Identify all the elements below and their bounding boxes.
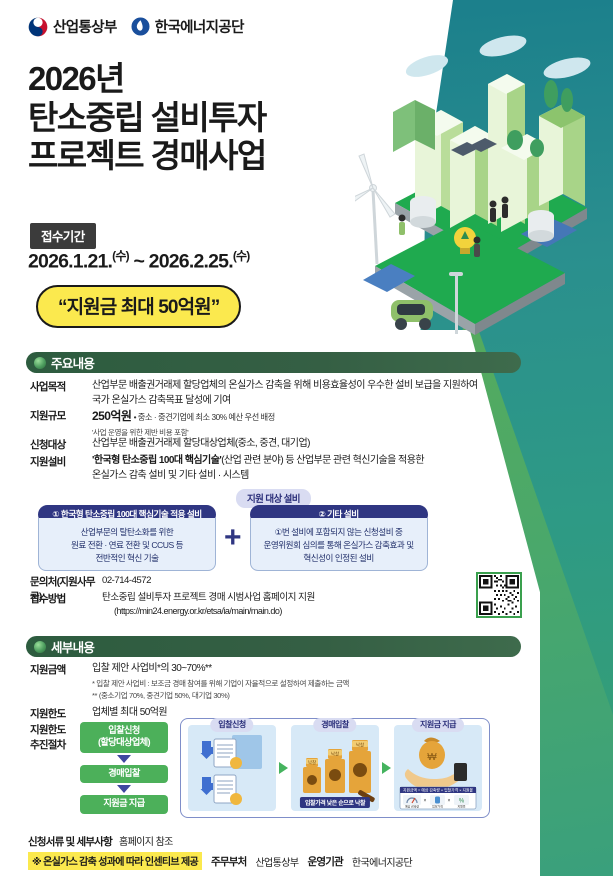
svg-text:×: × <box>424 798 427 804</box>
logo-agency-label: 한국에너지공단 <box>155 16 244 37</box>
section-header-main-label: 주요내용 <box>51 353 94 372</box>
flow-chip-1: 입찰신청 (할당대상업체) <box>80 722 168 753</box>
flow-step-1-label: 입찰신청 <box>210 718 253 732</box>
flow-arrow-right-icon-2 <box>382 762 391 774</box>
scale-note: • 중소 · 중견기업에 최소 30% 예산 우선 배정 <box>134 412 275 422</box>
svg-text:예상 감축량: 예상 감축량 <box>405 804 419 809</box>
scale-subnote: '사업 운영을 위한 제반 비용 포함' <box>92 427 275 438</box>
footer-docs-label: 신청서류 및 세부사항 <box>28 834 112 849</box>
info-label-grant-limit: 지원한도 <box>30 706 92 721</box>
purpose-line-2: 국가 온실가스 감축목표 달성에 기여 <box>92 395 231 406</box>
eq1-line-1: 산업부문의 탈탄소화를 위한 <box>81 527 174 537</box>
flow-chip-1-label: 입찰신청 <box>108 725 139 735</box>
contact-value-phone: 02-714-4572 <box>102 574 151 588</box>
grant-payment-icon: ₩ 지원금액 = 예상 감축량 × 입찰가격 × 지원율 예상 감축량 × <box>394 725 482 811</box>
info-body-purpose: 산업부문 배출권거래제 할당업체의 온실가스 감축을 위해 비용효율성이 우수한… <box>92 379 478 408</box>
apply-method-text: 탄소중립 설비투자 프로젝트 경매 시범사업 홈페이지 지원 <box>102 592 315 603</box>
equipment-line-1-rest: (산업 관련 분야) 등 산업부문 관련 혁신기술을 적용한 <box>221 455 424 466</box>
info-body-equipment: '한국형 탄소중립 100대 핵심기술'(산업 관련 분야) 등 산업부문 관련… <box>92 454 424 483</box>
equipment-box-2: ② 기타 설비 ①번 설비에 포함되지 않는 신청설비 중 운영위원회 심의를 … <box>250 505 428 571</box>
info-label-eligibility: 신청대상 <box>30 437 92 452</box>
svg-text:%: % <box>459 799 465 805</box>
procedure-illustration-panel: 입찰신청 <box>180 718 490 818</box>
plus-icon: + <box>224 523 242 553</box>
eq1-line-3: 전반적인 혁신 기술 <box>95 553 158 563</box>
equipment-box-1: ① 한국형 탄소중립 100대 핵심기술 적용 설비 산업부문의 탈탄소화를 위… <box>38 505 216 571</box>
section-bullet-icon-2 <box>34 641 46 653</box>
flow-arrow-right-icon-1 <box>279 762 288 774</box>
equipment-box-1-body: 산업부문의 탈탄소화를 위한 원료 전환 · 연료 전환 및 CCUS 등 전반… <box>38 518 216 571</box>
flow-step-2-canvas: 낙찰 낙찰 <box>291 725 379 811</box>
grant-footnote-2: ** (중소기업 70%, 중견기업 50%, 대기업 30%) <box>92 690 349 701</box>
section-header-main: 주요내용 <box>26 352 521 373</box>
grant-amount-line-1: 입찰 제안 사업비*의 30~70%** <box>92 663 212 674</box>
flow-chip-1-sublabel: (할당대상업체) <box>98 737 150 747</box>
footer-documents-row: 신청서류 및 세부사항 홈페이지 참조 <box>28 833 173 849</box>
svg-text:낙찰: 낙찰 <box>356 742 364 749</box>
info-label-equipment: 지원설비 <box>30 454 92 483</box>
flow-step-2-caption: 입찰가격 낮은 순으로 낙찰 <box>300 797 370 808</box>
period-end: 2026.2.25. <box>149 251 233 273</box>
footer-incentive-note: ※ 온실가스 감축 성과에 따라 인센티브 제공 <box>28 852 202 870</box>
energy-agency-icon <box>131 17 150 36</box>
eq2-line-2: 운영위원회 심의를 통해 온실가스 감축효과 및 <box>263 540 413 550</box>
info-row-scale: 지원규모 250억원 • 중소 · 중견기업에 최소 30% 예산 우선 배정 … <box>30 408 500 438</box>
flow-arrow-down-icon-1 <box>117 755 131 763</box>
procedure-flow-column: 입찰신청 (할당대상업체) 경매입찰 지원금 지급 <box>80 722 168 814</box>
flow-step-3: 지원금 지급 ₩ 지원금액 = 예상 감축량 × 입찰가격 × 지원율 <box>394 725 482 811</box>
contact-label-apply: 접수방법 <box>30 591 102 606</box>
period-tag: 접수기간 <box>30 223 96 249</box>
info-label-purpose: 사업목적 <box>30 379 92 408</box>
scale-amount: 250억원 <box>92 409 131 423</box>
logo-ministry: 산업통상부 <box>28 16 117 37</box>
flow-step-3-label: 지원금 지급 <box>412 718 464 732</box>
info-row-purpose: 사업목적 산업부문 배출권거래제 할당업체의 온실가스 감축을 위해 비용효율성… <box>30 379 500 408</box>
bid-application-icon <box>188 725 276 811</box>
title-line-3: 프로젝트 경매사업 <box>28 137 388 176</box>
equipment-line-2: 온실가스 감축 설비 및 기타 설비 · 시스템 <box>92 470 249 481</box>
footer-docs-value: 홈페이지 참조 <box>119 833 173 848</box>
svg-text:지원율: 지원율 <box>458 804 466 809</box>
taegeuk-icon <box>28 17 48 37</box>
poster-root: 산업통상부 한국에너지공단 2026년 탄소중립 설비투자 프로젝트 경매사업 … <box>0 0 613 876</box>
footer-ministry-label: 주무부처 <box>211 854 246 869</box>
logo-agency: 한국에너지공단 <box>131 16 244 37</box>
grant-amount-banner: “지원금 최대 50억원” <box>36 285 241 328</box>
footer-operator-value: 한국에너지공단 <box>352 854 412 869</box>
contact-row-apply: 접수방법 탄소중립 설비투자 프로젝트 경매 시범사업 홈페이지 지원 (htt… <box>30 591 315 619</box>
equipment-box-2-body: ①번 설비에 포함되지 않는 신청설비 중 운영위원회 심의를 통해 온실가스 … <box>250 518 428 571</box>
info-label-scale: 지원규모 <box>30 408 92 438</box>
footer-organizations-row: ※ 온실가스 감축 성과에 따라 인센티브 제공 주무부처 산업통상부 운영기관… <box>28 852 412 870</box>
info-row-equipment: 지원설비 '한국형 탄소중립 100대 핵심기술'(산업 관련 분야) 등 산업… <box>30 454 500 483</box>
info-body-eligibility: 산업부문 배출권거래제 할당대상업체(중소, 중견, 대기업) <box>92 437 310 452</box>
flow-chip-3: 지원금 지급 <box>80 795 168 814</box>
info-row-eligibility: 신청대상 산업부문 배출권거래제 할당대상업체(중소, 중견, 대기업) <box>30 437 500 452</box>
footer-ministry-value: 산업통상부 <box>255 854 298 869</box>
svg-text:낙찰: 낙찰 <box>331 751 339 758</box>
eco-city-illustration <box>355 28 607 358</box>
apply-url[interactable]: (https://min24.energy.or.kr/etsa/ia/main… <box>114 605 315 619</box>
title-line-1: 2026년 <box>28 60 388 99</box>
eq2-line-3: 혁신성이 인정된 설비 <box>303 553 373 563</box>
svg-text:×: × <box>448 798 451 804</box>
info-body-scale: 250억원 • 중소 · 중견기업에 최소 30% 예산 우선 배정 '사업 운… <box>92 408 275 438</box>
svg-text:₩: ₩ <box>427 752 437 763</box>
section-header-detail-label: 세부내용 <box>51 637 94 656</box>
period-start: 2026.1.21. <box>28 251 112 273</box>
qr-code[interactable] <box>476 572 522 618</box>
info-body-grant-amount: 입찰 제안 사업비*의 30~70%** * 입찰 제안 사업비 : 보조금 경… <box>92 662 349 701</box>
period-separator: ~ <box>133 251 144 273</box>
poster-title: 2026년 탄소중립 설비투자 프로젝트 경매사업 <box>28 60 388 176</box>
flow-step-2: 경매입찰 낙찰 <box>291 725 379 811</box>
footer-operator-label: 운영기관 <box>307 854 342 869</box>
section-header-detail: 세부내용 <box>26 636 521 657</box>
flow-step-1: 입찰신청 <box>188 725 276 811</box>
svg-text:지원금액 = 예상 감축량 × 입찰가격 × 지원율: 지원금액 = 예상 감축량 × 입찰가격 × 지원율 <box>403 788 473 793</box>
qr-code-graphic <box>479 575 519 615</box>
contact-value-apply: 탄소중립 설비투자 프로젝트 경매 시범사업 홈페이지 지원 (https://… <box>102 591 315 619</box>
period-dates: 2026.1.21.(수) ~ 2026.2.25.(수) <box>28 247 249 274</box>
flow-arrow-down-icon-2 <box>117 785 131 793</box>
logo-ministry-label: 산업통상부 <box>53 16 117 37</box>
flow-chip-2: 경매입찰 <box>80 765 168 784</box>
svg-text:입찰가격: 입찰가격 <box>432 804 443 809</box>
period-start-dow: (수) <box>112 249 129 263</box>
title-line-2: 탄소중립 설비투자 <box>28 99 388 138</box>
eq1-line-2: 원료 전환 · 연료 전환 및 CCUS 등 <box>71 540 183 550</box>
flow-step-2-label: 경매입찰 <box>313 718 356 732</box>
flow-step-3-canvas: ₩ 지원금액 = 예상 감축량 × 입찰가격 × 지원율 예상 감축량 × <box>394 725 482 811</box>
svg-text:낙찰: 낙찰 <box>308 759 316 766</box>
section-bullet-icon <box>34 357 46 369</box>
target-equipment-boxes: ① 한국형 탄소중립 100대 핵심기술 적용 설비 산업부문의 탈탄소화를 위… <box>38 505 458 571</box>
eq2-line-1: ①번 설비에 포함되지 않는 신청설비 중 <box>275 527 403 537</box>
period-end-dow: (수) <box>233 249 250 263</box>
logo-row: 산업통상부 한국에너지공단 <box>28 16 244 37</box>
info-label-grant-amount: 지원금액 <box>30 662 92 701</box>
equipment-bold-part: '한국형 탄소중립 100대 핵심기술' <box>92 455 221 466</box>
grant-footnote-1: * 입찰 제안 사업비 : 보조금 경매 참여를 위해 기업이 자율적으로 설정… <box>92 678 349 689</box>
info-row-grant-amount: 지원금액 입찰 제안 사업비*의 30~70%** * 입찰 제안 사업비 : … <box>30 662 500 701</box>
flow-step-1-canvas <box>188 725 276 811</box>
purpose-line-1: 산업부문 배출권거래제 할당업체의 온실가스 감축을 위해 비용효율성이 우수한… <box>92 380 478 391</box>
info-body-grant-limit: 업체별 최대 50억원 <box>92 706 167 721</box>
